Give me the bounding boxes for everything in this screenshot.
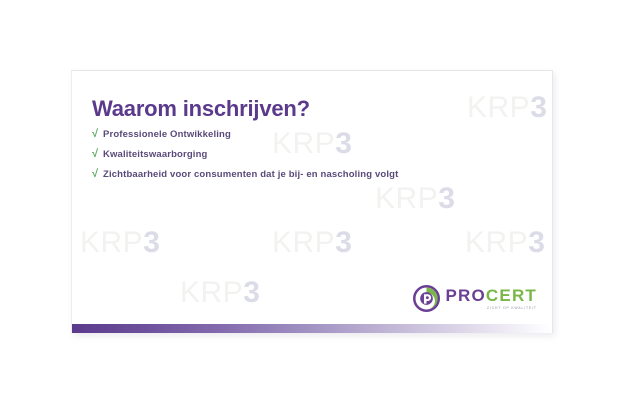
checkmark-icon: √ — [92, 169, 103, 180]
watermark-krp3: KRP3 — [180, 278, 260, 308]
watermark-krp3: KRP3 — [465, 228, 545, 258]
watermark-krp3: KRP3 — [467, 93, 547, 123]
bullet-label: Professionele Ontwikkeling — [103, 129, 231, 140]
bullet-label: Zichtbaarheid voor consumenten dat je bi… — [103, 169, 398, 180]
procert-logo-mark-icon — [413, 285, 440, 312]
watermark-krp3: KRP3 — [375, 184, 455, 214]
checkmark-icon: √ — [92, 129, 103, 140]
watermark-krp3: KRP3 — [272, 228, 352, 258]
watermark-number: 3 — [528, 226, 545, 259]
bottom-gradient-bar — [72, 324, 552, 333]
checkmark-icon: √ — [92, 149, 103, 160]
procert-tagline: ZICHT OP KWALITEIT — [487, 306, 537, 310]
watermark-number: 3 — [243, 276, 260, 309]
bullet-item: √ Zichtbaarheid voor consumenten dat je … — [92, 169, 512, 180]
watermark-krp-text: KRP — [272, 226, 335, 259]
bullet-list: √ Professionele Ontwikkeling √ Kwaliteit… — [92, 129, 512, 180]
slide-title: Waarom inschrijven? — [92, 96, 310, 122]
procert-wordmark-pro: PRO — [445, 286, 485, 305]
bullet-label: Kwaliteitswaarborging — [103, 149, 208, 160]
procert-logo: PROCERT ZICHT OP KWALITEIT — [413, 285, 537, 312]
watermark-number: 3 — [143, 226, 160, 259]
watermark-krp3: KRP3 — [80, 228, 160, 258]
bullet-item: √ Professionele Ontwikkeling — [92, 129, 512, 140]
bullet-item: √ Kwaliteitswaarborging — [92, 149, 512, 160]
watermark-krp-text: KRP — [80, 226, 143, 259]
watermark-krp-text: KRP — [467, 91, 530, 124]
watermark-krp-text: KRP — [375, 182, 438, 215]
procert-wordmark: PROCERT — [445, 287, 537, 304]
procert-logo-text: PROCERT ZICHT OP KWALITEIT — [445, 287, 537, 311]
watermark-number: 3 — [438, 182, 455, 215]
watermark-number: 3 — [335, 226, 352, 259]
watermark-krp-text: KRP — [465, 226, 528, 259]
watermark-number: 3 — [530, 91, 547, 124]
procert-wordmark-cert: CERT — [486, 286, 537, 305]
presentation-slide: KRP3 KRP3 KRP3 KRP3 KRP3 KRP3 KRP3 Waaro… — [71, 70, 553, 333]
watermark-krp-text: KRP — [180, 276, 243, 309]
